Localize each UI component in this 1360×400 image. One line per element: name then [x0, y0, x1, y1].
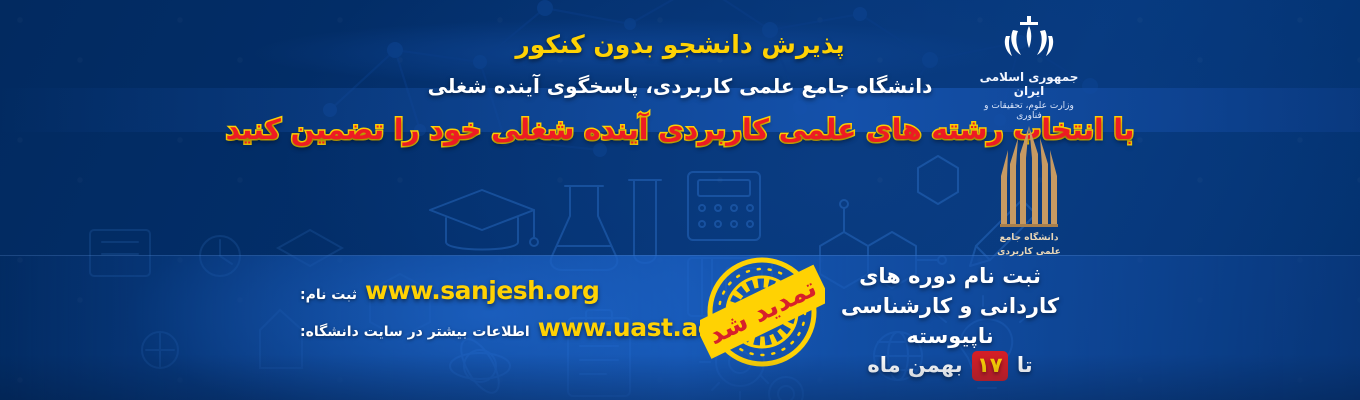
link-row-uast[interactable]: www.uast.ac.ir اطلاعات بیشتر در سایت دان…: [300, 313, 645, 342]
uast-url-label: اطلاعات بیشتر در سایت دانشگاه:: [300, 324, 530, 340]
notice-deadline-day: ۱۷: [972, 351, 1008, 381]
uast-tower-icon: [991, 124, 1067, 230]
sanjesh-url[interactable]: www.sanjesh.org: [365, 276, 599, 305]
notice-deadline-prefix: تا: [1017, 353, 1033, 377]
headline-line-3: با انتخاب رشته های علمی کاربردی آینده شغ…: [0, 113, 1360, 146]
sanjesh-url-label: ثبت نام:: [300, 287, 357, 303]
uast-logo: دانشگاه جامع علمی کاربردی: [970, 124, 1088, 256]
stamp-label: تمدید شد: [704, 273, 822, 351]
notice-line-2: کاردانی و کارشناسی ناپیوسته: [815, 292, 1085, 352]
uast-logo-title-2: علمی کاربردی: [970, 246, 1088, 258]
headline-line-1: پذیرش دانشجو بدون کنکور: [0, 20, 1360, 57]
notice-deadline-suffix: بهمن ماه: [867, 353, 962, 377]
link-row-sanjesh[interactable]: www.sanjesh.org ثبت نام:: [300, 276, 645, 305]
notice-line-1: ثبت نام دوره های: [815, 262, 1085, 292]
iran-emblem-title: جمهوری اسلامی ایران: [970, 70, 1088, 98]
iran-emblem-icon: [1000, 12, 1058, 64]
registration-links: www.sanjesh.org ثبت نام: www.uast.ac.ir …: [300, 276, 645, 342]
headline-line-2: دانشگاه جامع علمی کاربردی، پاسخگوی آینده…: [0, 76, 1360, 96]
uast-logo-title-1: دانشگاه جامع: [970, 232, 1088, 244]
extended-deadline-stamp: تمدید شد: [700, 252, 825, 372]
registration-notice: ثبت نام دوره های کاردانی و کارشناسی ناپی…: [815, 262, 1085, 381]
uast-admission-banner: پذیرش دانشجو بدون کنکور دانشگاه جامع علم…: [0, 0, 1360, 400]
iran-state-emblem: جمهوری اسلامی ایران وزارت علوم، تحقیقات …: [970, 12, 1088, 116]
notice-line-3: تا ۱۷ بهمن ماه: [815, 351, 1085, 381]
headline-block: پذیرش دانشجو بدون کنکور دانشگاه جامع علم…: [0, 20, 1360, 146]
iran-emblem-subtitle: وزارت علوم، تحقیقات و فناوری: [970, 101, 1088, 121]
